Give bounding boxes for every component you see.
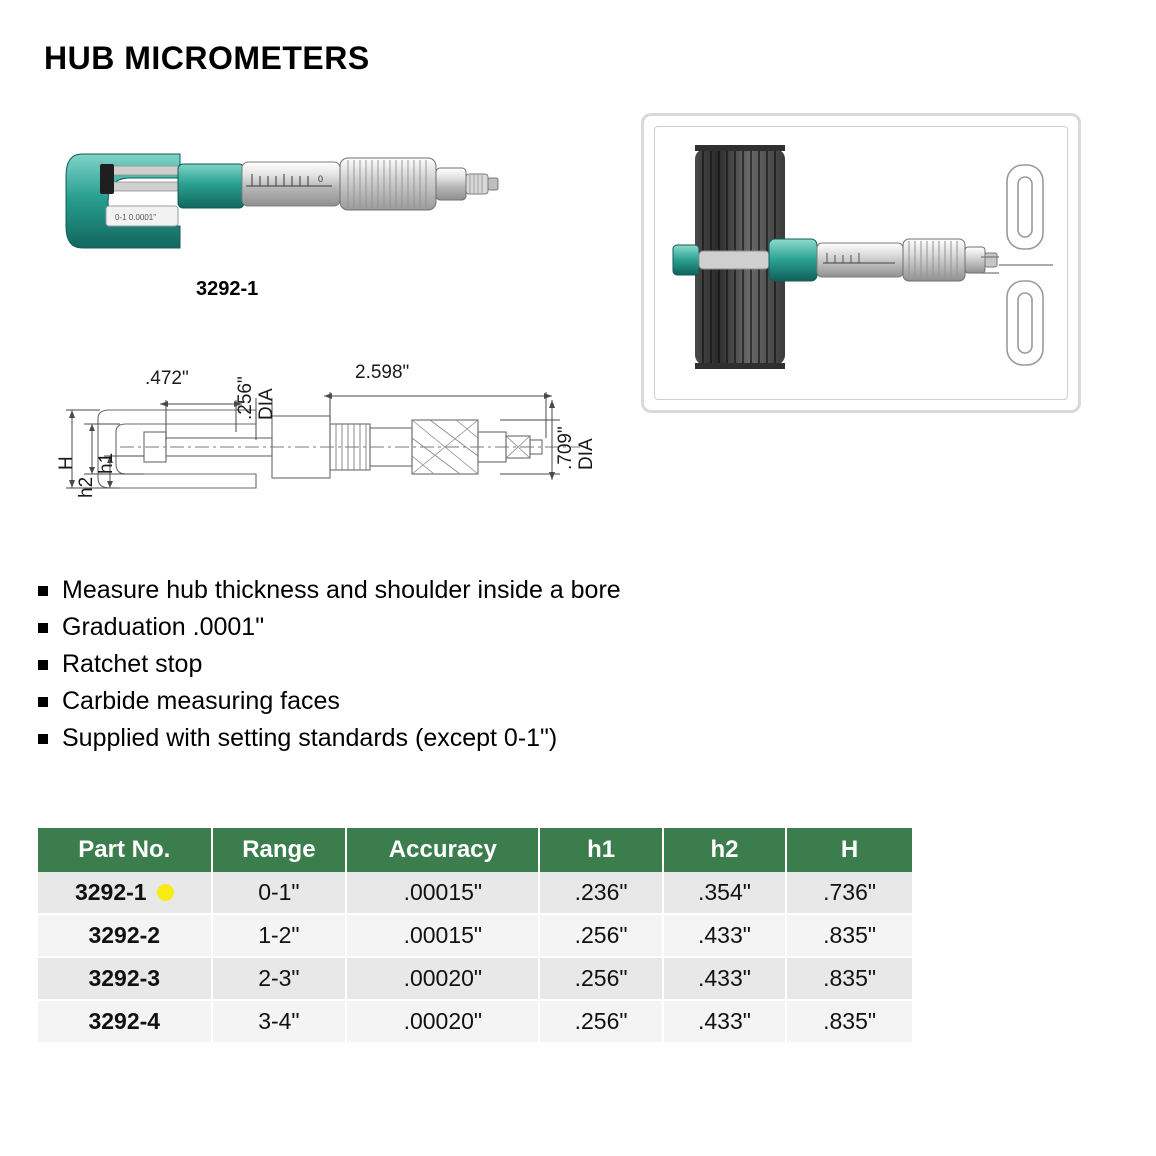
list-item: Measure hub thickness and shoulder insid…	[38, 575, 938, 605]
square-bullet-icon	[38, 660, 48, 670]
cell-h2: .354"	[663, 872, 786, 914]
feature-text: Graduation .0001"	[62, 612, 264, 642]
hub-micrometer-photo: 0-1 0.0001" 0	[60, 130, 530, 270]
cell-range: 0-1"	[212, 872, 347, 914]
micrometer-measuring-gear-hub-photo	[655, 127, 1073, 405]
cell-part-no: 3292-1	[38, 872, 212, 914]
column-header-part-no: Part No.	[38, 828, 212, 872]
page-title: HUB MICROMETERS	[44, 40, 370, 77]
application-photo-inner	[654, 126, 1068, 400]
cell-part-no: 3292-4	[38, 1000, 212, 1043]
cell-part-no: 3292-2	[38, 914, 212, 957]
feature-text: Ratchet stop	[62, 649, 202, 679]
svg-text:0: 0	[318, 174, 323, 184]
specification-table: Part No. Range Accuracy h1 h2 H 3292-1 0…	[38, 828, 912, 1044]
feature-text: Carbide measuring faces	[62, 686, 340, 716]
cell-H: .835"	[786, 957, 912, 1000]
cell-H: .835"	[786, 1000, 912, 1043]
dim-709-dia-label: DIA	[576, 438, 598, 470]
dim-709-label: .709"	[555, 426, 577, 470]
feature-text: Supplied with setting standards (except …	[62, 723, 557, 753]
column-header-h1: h1	[539, 828, 662, 872]
cell-h2: .433"	[663, 914, 786, 957]
square-bullet-icon	[38, 586, 48, 596]
column-header-H: H	[786, 828, 912, 872]
list-item: Carbide measuring faces	[38, 686, 938, 716]
part-no-text: 3292-1	[75, 879, 147, 905]
dim-H-label: H	[56, 456, 78, 470]
square-bullet-icon	[38, 623, 48, 633]
cell-h1: .256"	[539, 1000, 662, 1043]
column-header-h2: h2	[663, 828, 786, 872]
cell-h1: .256"	[539, 914, 662, 957]
square-bullet-icon	[38, 697, 48, 707]
svg-text:0-1 0.0001": 0-1 0.0001"	[115, 213, 156, 222]
dim-256-label: .256"	[235, 376, 257, 420]
cell-H: .835"	[786, 914, 912, 957]
list-item: Graduation .0001"	[38, 612, 938, 642]
cell-h2: .433"	[663, 957, 786, 1000]
table-row: 3292-2 1-2" .00015" .256" .433" .835"	[38, 914, 912, 957]
cell-accuracy: .00015"	[346, 914, 539, 957]
dim-h2-label: h2	[76, 477, 98, 498]
cell-h2: .433"	[663, 1000, 786, 1043]
cell-range: 1-2"	[212, 914, 347, 957]
cell-H: .736"	[786, 872, 912, 914]
dim-256-dia-label: DIA	[256, 388, 278, 420]
cell-h1: .256"	[539, 957, 662, 1000]
cell-accuracy: .00015"	[346, 872, 539, 914]
cell-range: 2-3"	[212, 957, 347, 1000]
cell-range: 3-4"	[212, 1000, 347, 1043]
dim-472-label: .472"	[145, 368, 189, 390]
photo-caption: 3292-1	[196, 278, 258, 301]
table-header-row: Part No. Range Accuracy h1 h2 H	[38, 828, 912, 872]
cell-h1: .236"	[539, 872, 662, 914]
column-header-range: Range	[212, 828, 347, 872]
column-header-accuracy: Accuracy	[346, 828, 539, 872]
table-row: 3292-3 2-3" .00020" .256" .433" .835"	[38, 957, 912, 1000]
cell-part-no: 3292-3	[38, 957, 212, 1000]
feature-list: Measure hub thickness and shoulder insid…	[38, 575, 938, 760]
list-item: Supplied with setting standards (except …	[38, 723, 938, 753]
table-row: 3292-4 3-4" .00020" .256" .433" .835"	[38, 1000, 912, 1043]
application-photo-panel	[641, 113, 1081, 413]
square-bullet-icon	[38, 734, 48, 744]
cell-accuracy: .00020"	[346, 957, 539, 1000]
feature-text: Measure hub thickness and shoulder insid…	[62, 575, 621, 605]
table-row: 3292-1 0-1" .00015" .236" .354" .736"	[38, 872, 912, 914]
specification-table-wrapper: Part No. Range Accuracy h1 h2 H 3292-1 0…	[38, 828, 912, 1044]
technical-drawing: .472" .256" DIA 2.598" .709" DIA H h1 h2	[60, 370, 620, 510]
dim-h1-label: h1	[96, 453, 118, 474]
cell-accuracy: .00020"	[346, 1000, 539, 1043]
catalog-page: HUB MICROMETERS	[0, 0, 1156, 1156]
dim-2598-label: 2.598"	[355, 362, 409, 384]
list-item: Ratchet stop	[38, 649, 938, 679]
highlight-dot-icon	[157, 884, 174, 901]
